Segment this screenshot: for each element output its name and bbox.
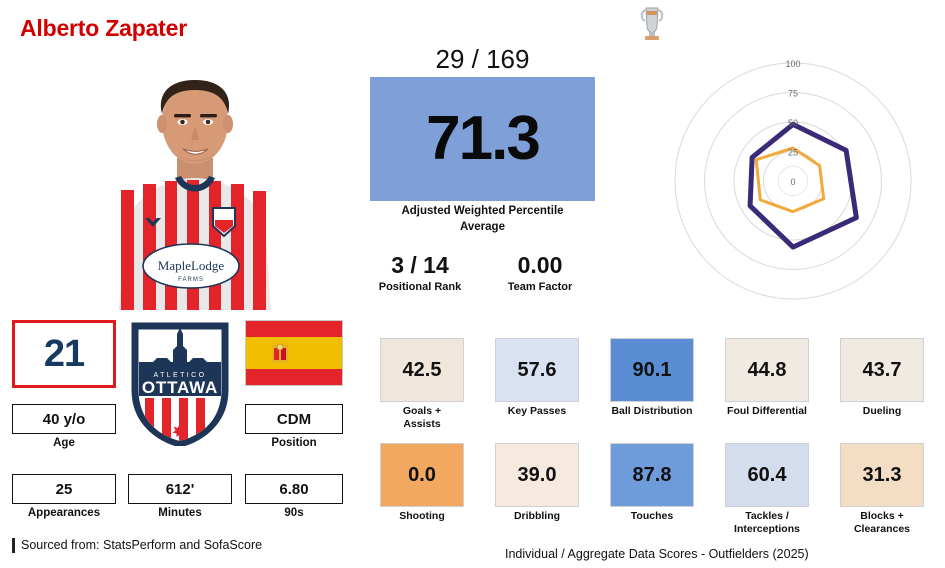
stat-tile-dribbling: 39.0 [495, 443, 579, 507]
stat-label-dribbling: Dribbling [490, 510, 584, 523]
crest-bottom-text: OTTAWA [142, 378, 218, 397]
stat-tile-ball-distribution: 90.1 [610, 338, 694, 402]
minutes-value: 612' [166, 481, 195, 498]
stat-label-key-passes: Key Passes [490, 405, 584, 418]
radar-tick-label: 0 [790, 177, 795, 187]
nineties-value: 6.80 [279, 481, 308, 498]
positional-rank-label: Positional Rank [360, 281, 480, 293]
stat-value: 90.1 [633, 359, 672, 382]
stat-tile-blocks-clearances: 31.3 [840, 443, 924, 507]
position-label: Position [245, 437, 343, 449]
appearances-box: 25 [12, 474, 116, 504]
sample-ratio: 29 / 169 [370, 44, 595, 75]
team-factor-label: Team Factor [485, 281, 595, 293]
stat-label-ball-distribution: Ball Distribution [600, 405, 704, 418]
positional-rank-value: 3 / 14 [360, 252, 480, 279]
club-crest: ATLETICO OTTAWA [127, 318, 233, 446]
radar-tick-label: 100 [785, 59, 800, 69]
stat-value: 60.4 [748, 464, 787, 487]
age-label: Age [12, 437, 116, 449]
age-value: 40 y/o [43, 411, 86, 428]
stat-label-touches: Touches [605, 510, 699, 523]
radar-series-player [750, 124, 856, 247]
source-note: Sourced from: StatsPerform and SofaScore [12, 538, 262, 553]
stat-label-tackles-interceptions: Tackles /Interceptions [715, 510, 819, 536]
stat-label-blocks-clearances: Blocks +Clearances [832, 510, 932, 536]
page-title: Alberto Zapater [20, 15, 187, 42]
minutes-label: Minutes [128, 507, 232, 519]
stat-label-shooting: Shooting [375, 510, 469, 523]
stat-tile-dueling: 43.7 [840, 338, 924, 402]
stat-tile-goals-assists: 42.5 [380, 338, 464, 402]
kit-number-box: 21 [12, 320, 116, 388]
nationality-flag-spain [245, 320, 343, 386]
radar-tick-label: 25 [788, 148, 798, 158]
kit-number: 21 [44, 333, 84, 376]
stat-label-goals-assists: Goals +Assists [375, 405, 469, 431]
position-value: CDM [277, 411, 311, 428]
stat-tile-key-passes: 57.6 [495, 338, 579, 402]
stat-value: 42.5 [403, 359, 442, 382]
stat-value: 0.0 [408, 464, 436, 487]
player-stat-dashboard: Alberto Zapater [0, 0, 945, 568]
nineties-label: 90s [245, 507, 343, 519]
appearances-value: 25 [56, 481, 73, 498]
svg-text:MapleLodge: MapleLodge [158, 258, 225, 273]
player-photo: MapleLodge FARMS [105, 50, 285, 310]
radar-tick-label: 75 [788, 89, 798, 99]
radar-chart: 0255075100 [648, 46, 938, 316]
minutes-box: 612' [128, 474, 232, 504]
stat-tile-tackles-interceptions: 60.4 [725, 443, 809, 507]
stat-tile-touches: 87.8 [610, 443, 694, 507]
appearances-label: Appearances [12, 507, 116, 519]
stat-value: 43.7 [863, 359, 902, 382]
headline-percentile-box: 71.3 [370, 77, 595, 201]
stat-value: 39.0 [518, 464, 557, 487]
stat-value: 31.3 [863, 464, 902, 487]
stat-tile-foul-differential: 44.8 [725, 338, 809, 402]
svg-text:FARMS: FARMS [178, 277, 204, 283]
nineties-box: 6.80 [245, 474, 343, 504]
stat-tile-shooting: 0.0 [380, 443, 464, 507]
radar-tick-label: 50 [788, 118, 798, 128]
stat-label-dueling: Dueling [835, 405, 929, 418]
trophy-icon [636, 2, 668, 44]
position-box: CDM [245, 404, 343, 434]
age-box: 40 y/o [12, 404, 116, 434]
stat-value: 44.8 [748, 359, 787, 382]
team-factor-value: 0.00 [485, 252, 595, 279]
dataset-caption: Individual / Aggregate Data Scores - Out… [505, 547, 809, 561]
stat-value: 57.6 [518, 359, 557, 382]
headline-percentile-value: 71.3 [426, 108, 539, 170]
headline-percentile-label: Adjusted Weighted PercentileAverage [360, 204, 605, 235]
stat-label-foul-differential: Foul Differential [715, 405, 819, 418]
stat-value: 87.8 [633, 464, 672, 487]
